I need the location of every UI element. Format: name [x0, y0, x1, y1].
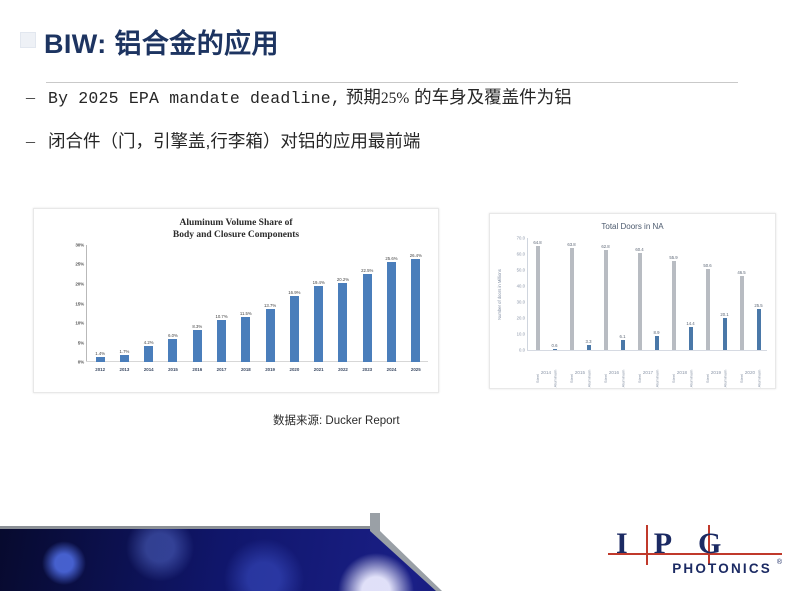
chart-total-doors-na: Total Doors in NA Number of doors in Mil… — [489, 213, 776, 389]
right-chart-bar — [570, 248, 574, 350]
right-chart-year-label: 2017 — [631, 370, 665, 380]
right-chart-bar-value: 50.6 — [703, 263, 711, 268]
left-chart-x-label: 2016 — [185, 367, 209, 379]
right-chart-bar-column: 46.5Steel — [733, 238, 750, 350]
left-chart-x-labels: 2012201320142015201620172018201920202021… — [88, 367, 428, 379]
right-chart-y-tick: 40.0 — [517, 284, 525, 289]
bullet-1-pct: 25% — [381, 90, 409, 107]
left-chart-bar-value: 20.2% — [337, 277, 349, 282]
right-chart-year-label: 2018 — [665, 370, 699, 380]
bullet-dash-1: – — [20, 84, 48, 110]
left-chart-y-tick: 30% — [75, 243, 84, 248]
left-chart-bar — [241, 317, 250, 362]
left-chart-x-label: 2020 — [282, 367, 306, 379]
left-chart-bar — [144, 346, 153, 362]
bullet-1-mono: By 2025 EPA mandate deadline, — [48, 89, 341, 108]
right-chart-bars: 64.8Steel0.6Aluminum63.8Steel3.3Aluminum… — [529, 238, 767, 350]
right-chart-bar-column: 6.1Aluminum — [614, 238, 631, 350]
slide-footer: I P G PHOTONICS ® — [0, 513, 800, 591]
left-chart-bar-column: 1.7% — [112, 245, 136, 362]
right-chart-bar-column: 20.1Aluminum — [716, 238, 733, 350]
right-chart-bar — [638, 253, 642, 350]
left-chart-title-line1: Aluminum Volume Share of — [34, 218, 438, 230]
left-chart-y-tick: 15% — [75, 301, 84, 306]
left-chart-x-label: 2019 — [258, 367, 282, 379]
right-chart-bar-value: 64.8 — [533, 240, 541, 245]
right-chart-y-axis: 0.010.020.030.040.050.060.070.0 — [504, 238, 526, 350]
logo-registered-mark: ® — [777, 559, 782, 566]
left-chart-y-tick: 5% — [78, 340, 84, 345]
bullet-text-1: By 2025 EPA mandate deadline, 预期25% 的车身及… — [48, 84, 572, 112]
page-title-en: BIW: — [44, 29, 107, 59]
left-chart-bar — [168, 339, 177, 362]
slide: BIW: 铝合金的应用 – By 2025 EPA mandate deadli… — [0, 0, 800, 591]
left-chart-bar-value: 8.3% — [192, 324, 202, 329]
right-chart-bar-value: 14.4 — [686, 321, 694, 326]
left-chart-bar — [266, 309, 275, 362]
right-chart-bar-value: 0.6 — [552, 343, 558, 348]
logo-letters: I P G — [610, 527, 792, 561]
bullet-1-cn2: 的车身及覆盖件为铝 — [414, 87, 572, 107]
left-chart-bars: 1.4%1.7%4.2%6.0%8.3%10.7%11.5%13.7%16.9%… — [88, 245, 428, 362]
right-chart-year-label: 2014 — [529, 370, 563, 380]
right-chart-y-axis-label-text: Number of doors in Millions — [497, 269, 502, 320]
left-chart-axis-line — [86, 245, 87, 362]
left-chart-bar-value: 25.6% — [385, 256, 397, 261]
left-chart-bar-value: 16.9% — [288, 290, 300, 295]
right-chart-bar — [553, 349, 557, 350]
bullet-dash-2: – — [20, 128, 48, 154]
left-chart-bar-value: 22.5% — [361, 268, 373, 273]
bullet-list: – By 2025 EPA mandate deadline, 预期25% 的车… — [20, 84, 780, 170]
left-chart-bar — [314, 286, 323, 362]
right-chart-year-labels: 2014201520162017201820192020 — [529, 370, 767, 380]
left-chart-x-label: 2022 — [331, 367, 355, 379]
right-chart-y-axis-label: Number of doors in Millions — [494, 240, 504, 348]
left-chart-title: Aluminum Volume Share of Body and Closur… — [34, 218, 438, 241]
left-chart-bar-column: 16.9% — [282, 245, 306, 362]
right-chart-bar — [672, 261, 676, 350]
left-chart-bar-value: 1.4% — [95, 351, 105, 356]
right-chart-bar — [604, 250, 608, 350]
bullet-text-2: 闭合件（门，引擎盖,行李箱）对铝的应用最前端 — [48, 128, 420, 154]
left-chart-bar-column: 25.6% — [379, 245, 403, 362]
left-chart-bar-value: 13.7% — [264, 303, 276, 308]
left-chart-bar-column: 13.7% — [258, 245, 282, 362]
right-chart-year-label: 2019 — [699, 370, 733, 380]
right-chart-y-tick: 20.0 — [517, 316, 525, 321]
left-chart-bar — [338, 283, 347, 362]
left-chart-bar — [217, 320, 226, 362]
right-chart-bar-column: 63.8Steel — [563, 238, 580, 350]
right-chart-bar — [706, 269, 710, 350]
right-chart-y-tick: 30.0 — [517, 300, 525, 305]
title-divider — [46, 82, 738, 83]
bullet-item-1: – By 2025 EPA mandate deadline, 预期25% 的车… — [20, 84, 780, 112]
right-chart-y-tick: 50.0 — [517, 268, 525, 273]
left-chart-y-axis: 0%5%10%15%20%25%30% — [62, 245, 86, 362]
left-chart-bar-value: 4.2% — [144, 340, 154, 345]
left-chart-x-label: 2025 — [404, 367, 428, 379]
chart-aluminum-volume-share: Aluminum Volume Share of Body and Closur… — [33, 208, 439, 393]
right-chart-bar-column: 14.4Aluminum — [682, 238, 699, 350]
right-chart-y-tick: 70.0 — [517, 236, 525, 241]
left-chart-x-label: 2017 — [209, 367, 233, 379]
left-chart-y-tick: 10% — [75, 320, 84, 325]
right-chart-bar-column: 64.8Steel — [529, 238, 546, 350]
right-chart-bar-value: 3.3 — [586, 339, 592, 344]
bullet-1-cn1: 预期 — [346, 87, 381, 107]
left-chart-bar-column: 4.2% — [137, 245, 161, 362]
right-chart-year-label: 2020 — [733, 370, 767, 380]
right-chart-year-label: 2016 — [597, 370, 631, 380]
right-chart-bar-value: 63.8 — [567, 242, 575, 247]
left-chart-x-label: 2024 — [379, 367, 403, 379]
right-chart-y-tick: 60.0 — [517, 252, 525, 257]
left-chart-bar-column: 6.0% — [161, 245, 185, 362]
left-chart-x-label: 2012 — [88, 367, 112, 379]
left-chart-bar-value: 6.0% — [168, 333, 178, 338]
left-chart-bar-value: 10.7% — [215, 314, 227, 319]
left-chart-bar-column: 8.3% — [185, 245, 209, 362]
left-chart-title-line2: Body and Closure Components — [34, 230, 438, 242]
right-chart-bar — [757, 309, 761, 350]
right-chart-bar — [689, 327, 693, 350]
ipg-photonics-logo: I P G PHOTONICS ® — [600, 525, 786, 583]
right-chart-year-label: 2015 — [563, 370, 597, 380]
left-chart-bar — [193, 330, 202, 362]
left-chart-bar-value: 1.7% — [120, 349, 130, 354]
left-chart-bar-value: 26.4% — [410, 253, 422, 258]
right-chart-bar-value: 60.4 — [635, 247, 643, 252]
left-chart-bar-column: 1.4% — [88, 245, 112, 362]
left-chart-bar — [411, 259, 420, 362]
right-chart-bar-value: 62.8 — [601, 244, 609, 249]
left-chart-bar-column: 20.2% — [331, 245, 355, 362]
right-chart-bar-column: 60.4Steel — [631, 238, 648, 350]
right-chart-bar-value: 6.1 — [620, 334, 626, 339]
left-chart-bar — [120, 355, 129, 362]
left-chart-bar-column: 19.4% — [307, 245, 331, 362]
right-chart-bar — [621, 340, 625, 350]
source-note: 数据来源: Ducker Report — [273, 412, 400, 428]
left-chart-bar-value: 11.5% — [240, 311, 252, 316]
right-chart-bar-column: 55.9Steel — [665, 238, 682, 350]
page-title-cn: 铝合金的应用 — [115, 29, 279, 59]
right-chart-axis-line — [527, 238, 528, 350]
right-chart-bar — [740, 276, 744, 350]
right-chart-bar-column: 50.6Steel — [699, 238, 716, 350]
left-chart-bar-column: 11.5% — [234, 245, 258, 362]
right-chart-bar-column: 8.9Aluminum — [648, 238, 665, 350]
logo-subtitle: PHOTONICS — [672, 561, 772, 576]
right-chart-title: Total Doors in NA — [490, 222, 775, 231]
right-chart-bar — [587, 345, 591, 350]
left-chart-x-label: 2014 — [137, 367, 161, 379]
right-chart-bar-value: 46.5 — [737, 270, 745, 275]
left-chart-bar-column: 26.4% — [404, 245, 428, 362]
right-chart-bar — [655, 336, 659, 350]
slide-title-block: BIW: 铝合金的应用 — [0, 14, 800, 64]
page-title: BIW: 铝合金的应用 — [44, 22, 279, 61]
left-chart-x-label: 2021 — [307, 367, 331, 379]
logo-letter-p: P — [654, 527, 673, 561]
title-marker-icon — [20, 32, 36, 48]
right-chart-bar-column: 62.8Steel — [597, 238, 614, 350]
right-chart-bar-column: 3.3Aluminum — [580, 238, 597, 350]
right-chart-y-tick: 10.0 — [517, 332, 525, 337]
left-chart-x-label: 2023 — [355, 367, 379, 379]
right-chart-bar — [723, 318, 727, 350]
left-chart-y-tick: 0% — [78, 360, 84, 365]
bullet-item-2: – 闭合件（门，引擎盖,行李箱）对铝的应用最前端 — [20, 128, 780, 154]
right-chart-bar-value: 20.1 — [720, 312, 728, 317]
left-chart-bar — [387, 262, 396, 362]
right-chart-bar-value: 55.9 — [669, 255, 677, 260]
left-chart-x-label: 2018 — [234, 367, 258, 379]
right-chart-bar-column: 0.6Aluminum — [546, 238, 563, 350]
left-chart-bar-column: 22.5% — [355, 245, 379, 362]
right-chart-bar-value: 25.5 — [754, 303, 762, 308]
left-chart-bar-column: 10.7% — [209, 245, 233, 362]
left-chart-x-label: 2015 — [161, 367, 185, 379]
logo-letter-i: I — [616, 527, 629, 561]
left-chart-bar — [96, 357, 105, 362]
right-chart-bar-value: 8.9 — [654, 330, 660, 335]
right-chart-bar-column: 25.5Aluminum — [750, 238, 767, 350]
left-chart-bar-value: 19.4% — [313, 280, 325, 285]
right-chart-baseline — [527, 350, 767, 351]
left-chart-x-label: 2013 — [112, 367, 136, 379]
logo-letter-g: G — [698, 527, 722, 561]
left-chart-y-tick: 20% — [75, 281, 84, 286]
left-chart-y-tick: 25% — [75, 262, 84, 267]
left-chart-bar — [363, 274, 372, 362]
right-chart-bar — [536, 246, 540, 350]
left-chart-bar — [290, 296, 299, 362]
right-chart-y-tick: 0.0 — [519, 348, 525, 353]
